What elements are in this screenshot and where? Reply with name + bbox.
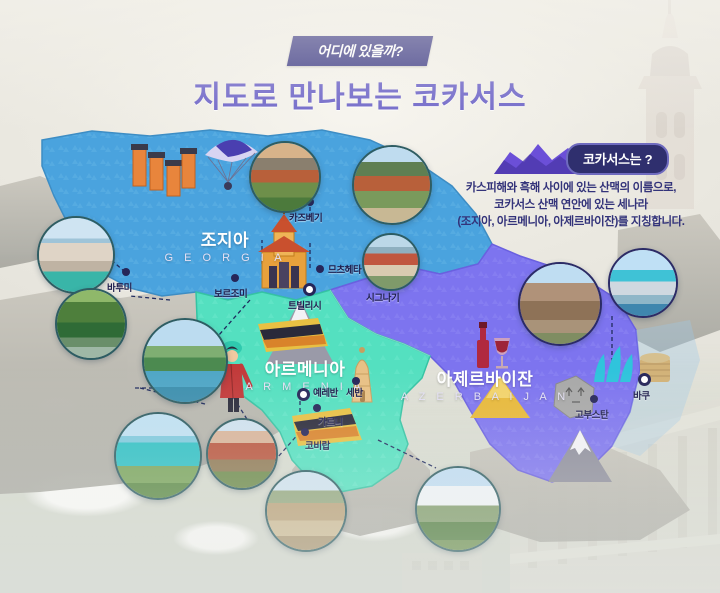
gobustan-photo[interactable]: [518, 262, 602, 346]
gobustan-photo-image: [520, 264, 600, 344]
city-dot-baku[interactable]: [638, 373, 651, 386]
city-label-borjomi: 보르조미: [214, 286, 247, 300]
info-description: 카스피해와 흑해 사이에 있는 산맥의 이름으로, 코카서스 산맥 연안에 있는…: [440, 180, 702, 231]
mtskheta-photo[interactable]: [352, 145, 432, 225]
info-line-3: (조지아, 아르메니아, 아제르바이잔)를 지칭합니다.: [440, 214, 702, 231]
city-label-tbilisi: 트빌리시: [288, 298, 321, 312]
batumi-photo-image: [39, 218, 113, 292]
city-label-gobustan: 고부스탄: [575, 407, 608, 421]
khorvirap-photo[interactable]: [415, 466, 501, 552]
infographic-canvas: 어디에 있을까? 지도로 만나보는 코카서스 코카서스는 ? 카스피해와 흑해 …: [0, 0, 720, 593]
kazbegi-photo-image: [251, 143, 319, 211]
garni-photo[interactable]: [265, 470, 347, 552]
batumi-photo[interactable]: [37, 216, 115, 294]
city-label-kazbegi: 카즈베기: [289, 210, 322, 224]
sevan-photo[interactable]: [114, 412, 202, 500]
header-ribbon-label: 어디에 있을까?: [290, 36, 430, 66]
info-line-2: 코카서스 산맥 연안에 있는 세나라: [440, 197, 702, 214]
borjomi-photo[interactable]: [55, 288, 127, 360]
city-label-khorvirap: 코비랍: [305, 438, 330, 452]
city-dot-yerevan[interactable]: [297, 388, 310, 401]
city-dot-garni[interactable]: [313, 404, 321, 412]
carpet-icon-2: [258, 318, 328, 352]
baku-photo[interactable]: [608, 248, 678, 318]
info-line-1: 카스피해와 흑해 사이에 있는 산맥의 이름으로,: [440, 180, 702, 197]
city-label-baku: 바쿠: [633, 388, 650, 402]
city-label-sighnaghi: 시그나기: [366, 290, 399, 304]
page-title: 지도로 만나보는 코카서스: [0, 72, 720, 116]
city-dot-mtskheta[interactable]: [316, 265, 324, 273]
city-dot-batumi[interactable]: [122, 268, 130, 276]
city-label-sevan: 세반: [346, 385, 363, 399]
borjomi-photo-image: [57, 290, 125, 358]
garni-photo-image: [267, 472, 345, 550]
tbilisi-photo-image: [144, 320, 226, 402]
yerevan-photo[interactable]: [206, 418, 278, 490]
baku-photo-image: [610, 250, 676, 316]
city-label-batumi: 바투미: [107, 280, 132, 294]
city-label-mtskheta: 므츠헤타: [328, 262, 361, 276]
info-badge: 코카서스는 ?: [566, 143, 669, 175]
sighnaghi-photo-image: [364, 235, 418, 289]
kazbegi-photo[interactable]: [249, 141, 321, 213]
city-label-yerevan: 예레반: [313, 385, 338, 399]
city-dot-sevan[interactable]: [352, 377, 360, 385]
tbilisi-photo[interactable]: [142, 318, 228, 404]
yerevan-photo-image: [208, 420, 276, 488]
city-dot-khorvirap[interactable]: [301, 428, 309, 436]
city-dot-tbilisi[interactable]: [303, 283, 316, 296]
mtskheta-photo-image: [354, 147, 430, 223]
city-label-garni: 가르니: [318, 414, 343, 428]
city-dot-borjomi[interactable]: [231, 274, 239, 282]
sighnaghi-photo[interactable]: [362, 233, 420, 291]
sevan-photo-image: [116, 414, 200, 498]
khorvirap-photo-image: [417, 468, 499, 550]
city-dot-gobustan[interactable]: [590, 395, 598, 403]
